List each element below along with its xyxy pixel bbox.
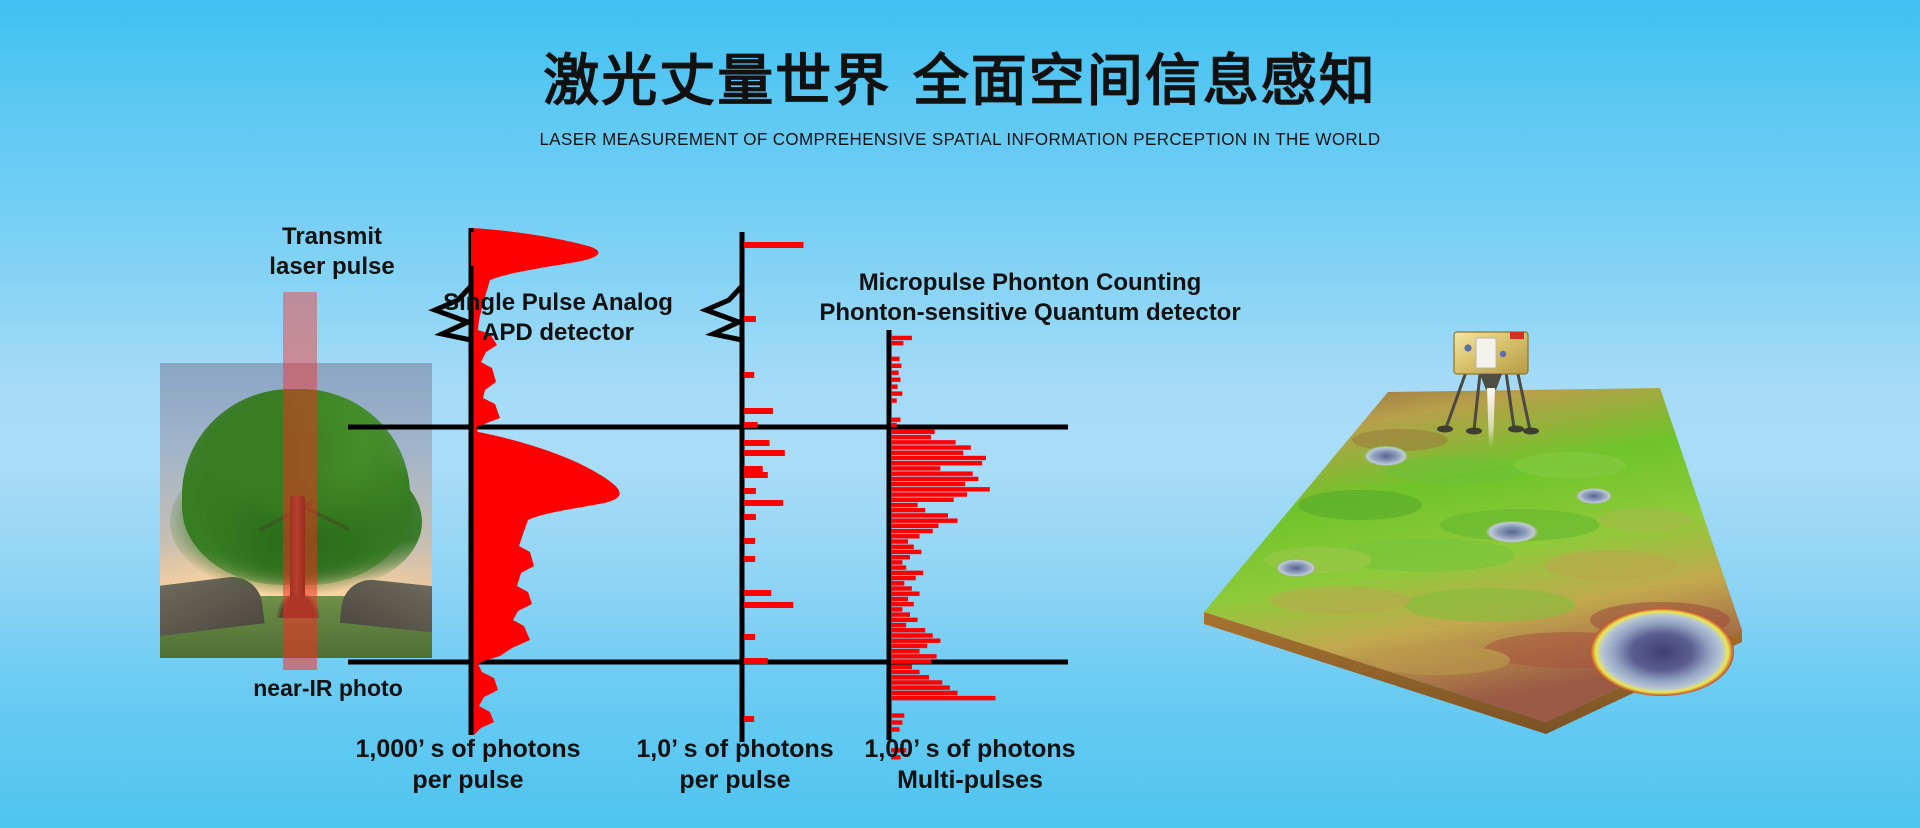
label-micropulse-photon-counting: Micropulse Phonton Counting Phonton-sens… bbox=[790, 268, 1270, 328]
caption-analog-line1: 1,000’ s of photons bbox=[318, 734, 618, 765]
bar bbox=[891, 680, 942, 684]
terrain-crater-small-3 bbox=[1276, 559, 1316, 577]
bar bbox=[744, 590, 771, 596]
bar bbox=[891, 513, 948, 517]
bar bbox=[891, 524, 939, 528]
bar bbox=[891, 440, 956, 444]
bar bbox=[891, 560, 902, 564]
bar bbox=[891, 498, 954, 502]
bar bbox=[891, 670, 920, 674]
bar bbox=[744, 242, 804, 248]
bar bbox=[891, 371, 899, 375]
bar bbox=[744, 500, 783, 506]
bar bbox=[891, 649, 920, 653]
terrain-crater-small-4 bbox=[1576, 488, 1612, 504]
caption-analog-waveform: 1,000’ s of photons per pulse bbox=[318, 734, 618, 797]
bar bbox=[891, 597, 908, 601]
bar bbox=[891, 639, 940, 643]
bar bbox=[744, 716, 754, 722]
bar bbox=[891, 435, 931, 439]
bar bbox=[744, 450, 785, 456]
bar bbox=[891, 492, 967, 496]
terrain-crater-small-1 bbox=[1364, 446, 1408, 466]
bar bbox=[891, 720, 902, 724]
caption-photon-counting: 1,00’ s of photons Multi-pulses bbox=[830, 734, 1110, 797]
bar bbox=[891, 384, 898, 388]
bar bbox=[891, 612, 910, 616]
label-micro-line2: Phonton-sensitive Quantum detector bbox=[790, 298, 1270, 328]
lander-sensor bbox=[1500, 351, 1506, 357]
bar bbox=[891, 545, 914, 549]
bar bbox=[891, 378, 901, 382]
caption-photon-line2: Multi-pulses bbox=[830, 765, 1110, 796]
lander-panel-red bbox=[1510, 332, 1524, 339]
bar bbox=[744, 602, 793, 608]
bar bbox=[891, 602, 914, 606]
bar bbox=[891, 418, 901, 422]
bar bbox=[891, 539, 908, 543]
bar bbox=[891, 508, 925, 512]
bar bbox=[891, 576, 916, 580]
bar bbox=[744, 466, 763, 472]
bar bbox=[891, 503, 918, 507]
bar bbox=[744, 472, 768, 478]
bar bbox=[891, 565, 906, 569]
bar bbox=[744, 634, 755, 640]
bar bbox=[891, 659, 931, 663]
bar bbox=[891, 555, 910, 559]
bar bbox=[891, 534, 920, 538]
bar bbox=[891, 364, 901, 368]
bar bbox=[891, 336, 912, 340]
bar bbox=[891, 586, 912, 590]
label-single-pulse-analog-apd: Single Pulse Analog APD detector bbox=[408, 288, 708, 348]
bar bbox=[891, 529, 933, 533]
bar bbox=[744, 422, 758, 428]
label-transmit-laser-pulse: Transmit laser pulse bbox=[222, 222, 442, 282]
bar bbox=[891, 398, 897, 402]
bar bbox=[891, 644, 927, 648]
bar bbox=[891, 727, 900, 731]
bar bbox=[891, 430, 935, 434]
bar bbox=[891, 445, 971, 449]
bar bbox=[891, 357, 900, 361]
diagram-stage: Transmit laser pulse Single Pulse Analog… bbox=[0, 0, 1920, 828]
bar bbox=[891, 618, 918, 622]
lunar-lander bbox=[1430, 330, 1560, 450]
bar bbox=[891, 482, 965, 486]
bar bbox=[891, 471, 973, 475]
bar bbox=[891, 633, 933, 637]
label-near-ir-photo: near-IR photo bbox=[208, 674, 448, 703]
lander-engine-plume bbox=[1487, 388, 1495, 446]
bar bbox=[891, 466, 940, 470]
bar bbox=[891, 685, 950, 689]
photon-counting-panel bbox=[889, 330, 996, 759]
bar bbox=[891, 696, 996, 700]
bar bbox=[891, 654, 937, 658]
bar bbox=[891, 391, 902, 395]
bar bbox=[744, 514, 756, 520]
bar bbox=[891, 713, 904, 717]
bar bbox=[744, 316, 756, 322]
label-transmit-line1: Transmit bbox=[222, 222, 442, 252]
bar bbox=[891, 550, 921, 554]
terrain-crater-small-2 bbox=[1486, 521, 1538, 543]
bar bbox=[744, 658, 768, 664]
bar bbox=[744, 408, 773, 414]
bar bbox=[891, 691, 958, 695]
label-transmit-line2: laser pulse bbox=[222, 252, 442, 282]
bar bbox=[891, 628, 925, 632]
bar bbox=[891, 571, 923, 575]
bar bbox=[891, 461, 982, 465]
bar bbox=[891, 607, 902, 611]
bar bbox=[744, 556, 755, 562]
bar bbox=[891, 592, 920, 596]
bar bbox=[891, 477, 978, 481]
bar bbox=[891, 675, 929, 679]
bar bbox=[891, 518, 958, 522]
bar bbox=[891, 487, 990, 491]
bar bbox=[744, 488, 756, 494]
bar bbox=[891, 451, 963, 455]
lander-engine-bell bbox=[1480, 374, 1502, 390]
photon-counting-bars bbox=[891, 336, 996, 760]
terrain-crater-large bbox=[1590, 608, 1734, 696]
label-apd-line2: APD detector bbox=[408, 318, 708, 348]
caption-photon-line1: 1,00’ s of photons bbox=[830, 734, 1110, 765]
bar bbox=[891, 665, 912, 669]
sparse-axis-break-left bbox=[706, 286, 742, 340]
bar bbox=[891, 581, 904, 585]
sparse-waveform-panel bbox=[706, 232, 804, 742]
bar bbox=[891, 623, 906, 627]
lander-footpads bbox=[1437, 426, 1539, 435]
label-micro-line1: Micropulse Phonton Counting bbox=[790, 268, 1270, 298]
bar bbox=[744, 372, 754, 378]
label-apd-line1: Single Pulse Analog bbox=[408, 288, 708, 318]
caption-analog-line2: per pulse bbox=[318, 765, 618, 796]
bar bbox=[891, 456, 986, 460]
lander-panel-white bbox=[1476, 338, 1496, 368]
bar bbox=[891, 423, 897, 427]
bar bbox=[891, 341, 903, 345]
bar bbox=[744, 440, 770, 446]
bar bbox=[744, 538, 755, 544]
lander-thruster-port bbox=[1464, 344, 1471, 351]
